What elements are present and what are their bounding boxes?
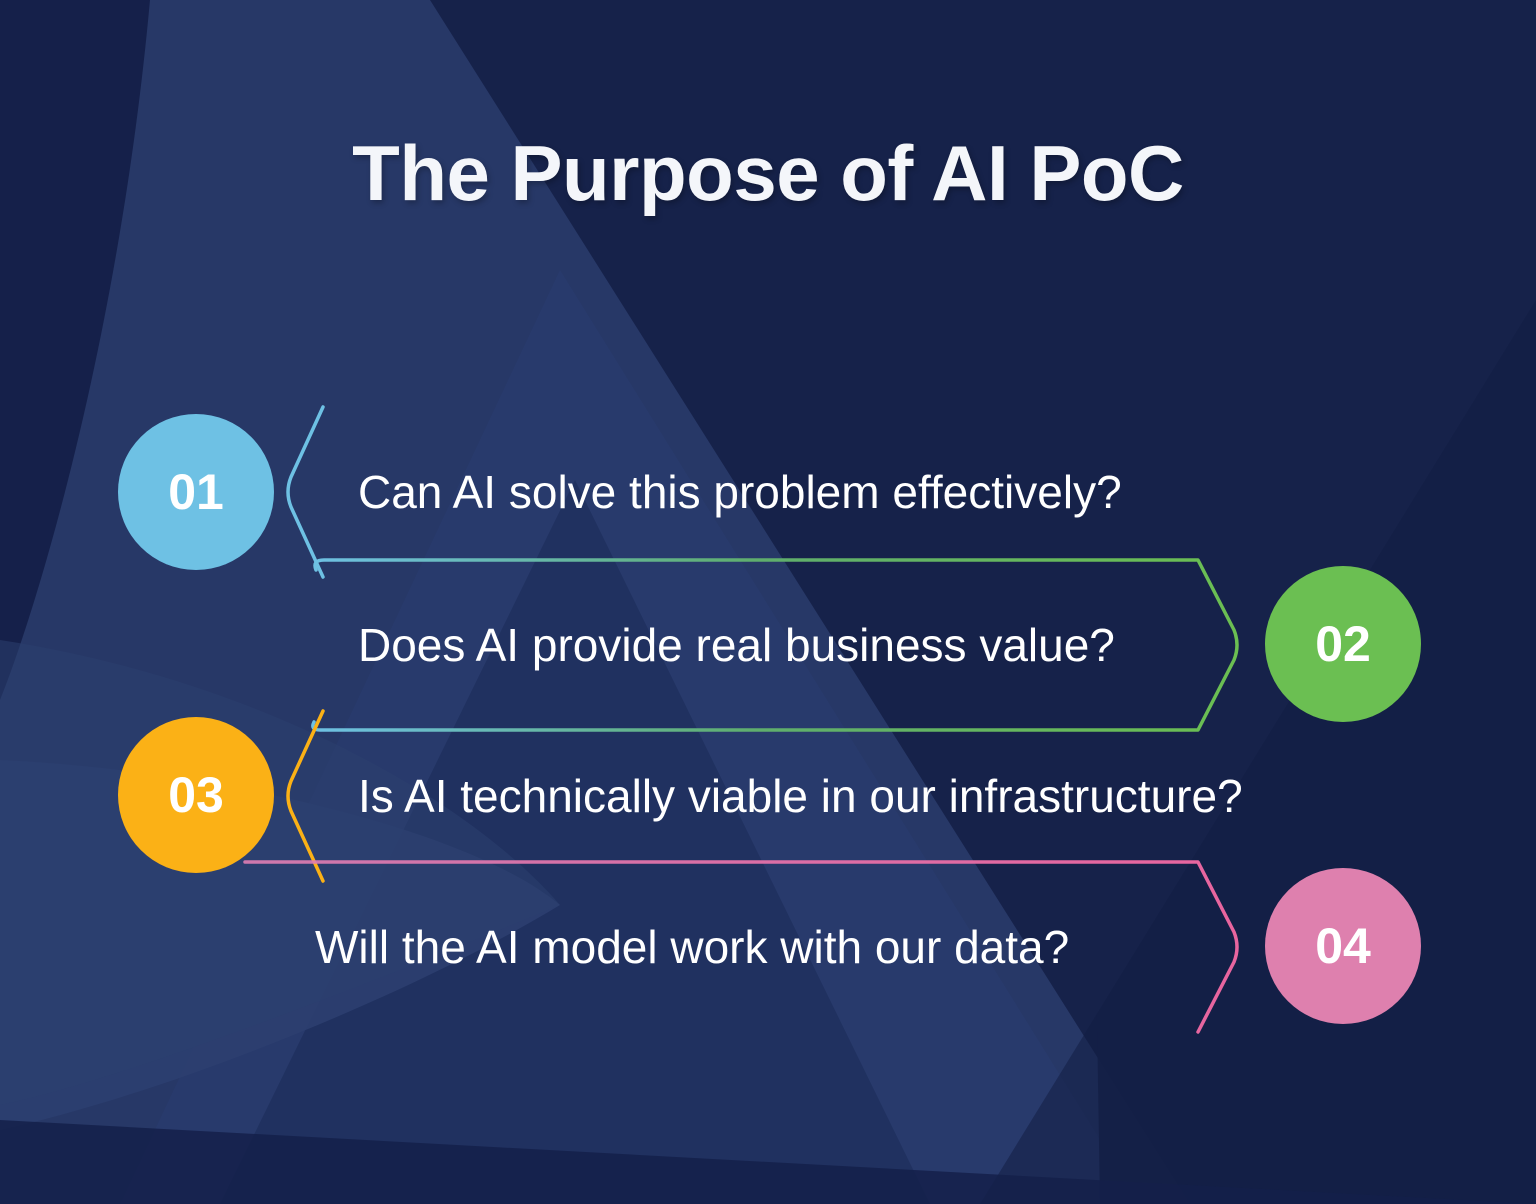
slide-canvas: The Purpose of AI PoC Can AI solve this … [0, 0, 1536, 1204]
page-title: The Purpose of AI PoC [0, 128, 1536, 219]
list-item-1[interactable]: Can AI solve this problem effectively? [283, 403, 1163, 581]
badge-circle-03-number: 03 [168, 770, 224, 820]
badge-circle-04[interactable]: 04 [1265, 868, 1421, 1024]
list-item-4-text: Will the AI model work with our data? [315, 858, 1069, 1036]
badge-circle-01-number: 01 [168, 467, 224, 517]
badge-circle-02[interactable]: 02 [1265, 566, 1421, 722]
badge-circle-03[interactable]: 03 [118, 717, 274, 873]
badge-circle-02-number: 02 [1315, 619, 1371, 669]
badge-circle-04-number: 04 [1315, 921, 1371, 971]
badge-circle-01[interactable]: 01 [118, 414, 274, 570]
list-item-4[interactable]: Will the AI model work with our data? [245, 858, 1240, 1036]
list-item-1-text: Can AI solve this problem effectively? [358, 403, 1122, 581]
